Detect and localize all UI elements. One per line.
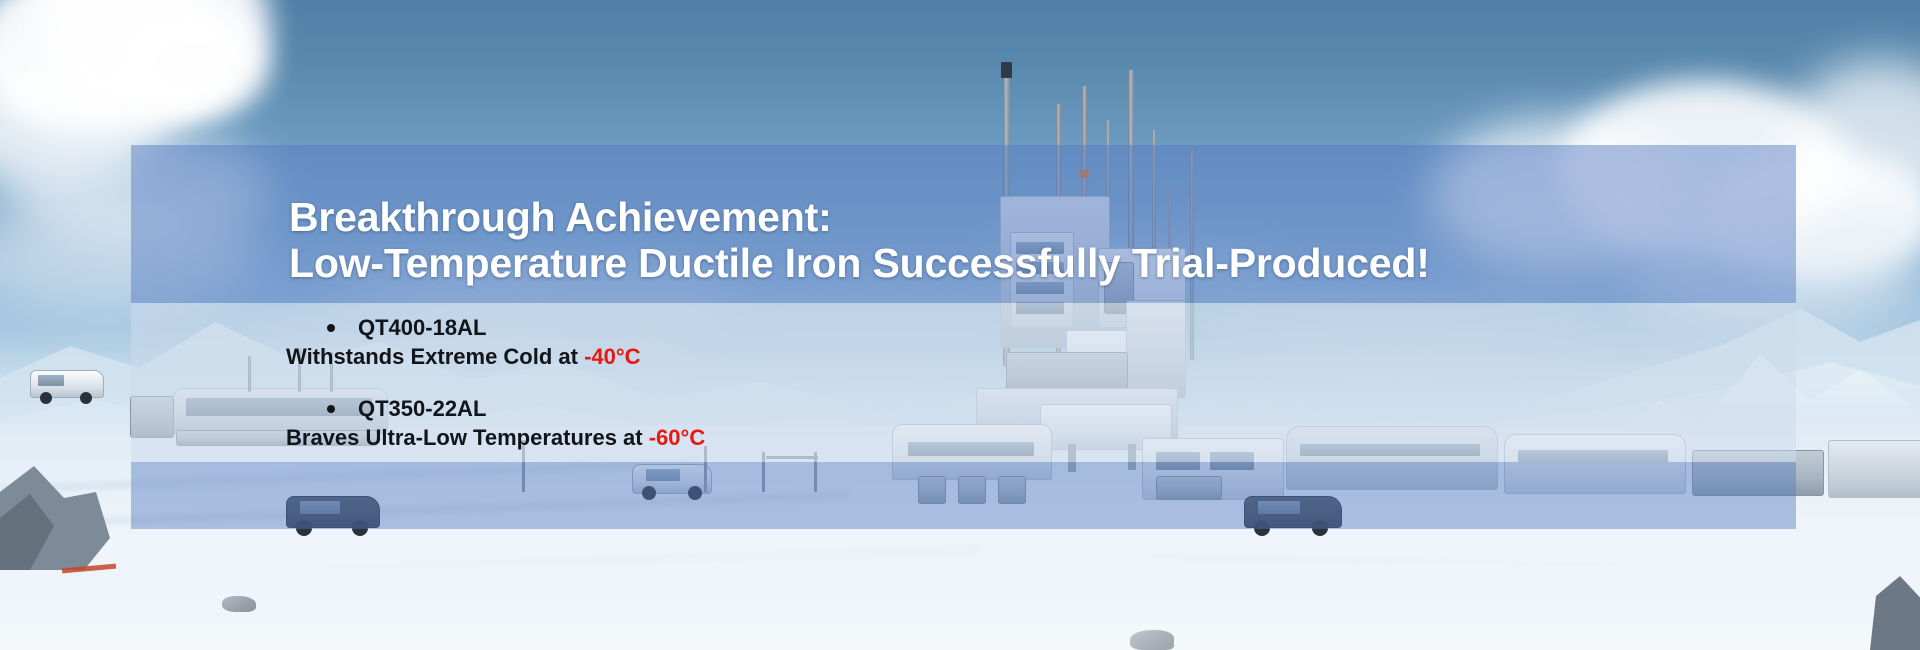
foreground-rock [222,596,256,612]
product-grade: QT350-22AL [358,396,486,421]
foreground-rock [0,452,110,570]
bullet-dot-icon [327,405,335,413]
vehicle-wheel [40,392,52,404]
station-block [1828,440,1920,498]
snow-foreground [0,520,1920,650]
page-title: Breakthrough Achievement: Low-Temperatur… [289,194,1769,286]
list-item: QT350-22AL Braves Ultra-Low Temperatures… [131,394,1796,453]
headline-line-2: Low-Temperature Ductile Iron Successfull… [289,240,1769,286]
temperature-value: -40°C [584,344,640,369]
list-item: QT400-18AL Withstands Extreme Cold at -4… [131,313,1796,372]
feature-list: QT400-18AL Withstands Extreme Cold at -4… [131,313,1796,453]
bullet-description-row: Withstands Extreme Cold at -40°C [131,342,1796,372]
headline-line-1: Breakthrough Achievement: [289,194,832,240]
antenna-tip [1001,62,1012,78]
footer-panel [131,462,1796,529]
bullet-description: Braves Ultra-Low Temperatures at [286,425,649,450]
promo-banner: Breakthrough Achievement: Low-Temperatur… [0,0,1920,650]
bullet-dot-icon [327,324,335,332]
vehicle-window [38,375,64,386]
bullet-description: Withstands Extreme Cold at [286,344,584,369]
bullet-description-row: Braves Ultra-Low Temperatures at -60°C [131,423,1796,453]
temperature-value: -60°C [649,425,705,450]
foreground-rock [1870,560,1920,650]
bullet-grade-row: QT400-18AL [131,313,1796,342]
product-grade: QT400-18AL [358,315,486,340]
foreground-rock [1130,630,1174,650]
bullet-grade-row: QT350-22AL [131,394,1796,423]
vehicle-wheel [80,392,92,404]
